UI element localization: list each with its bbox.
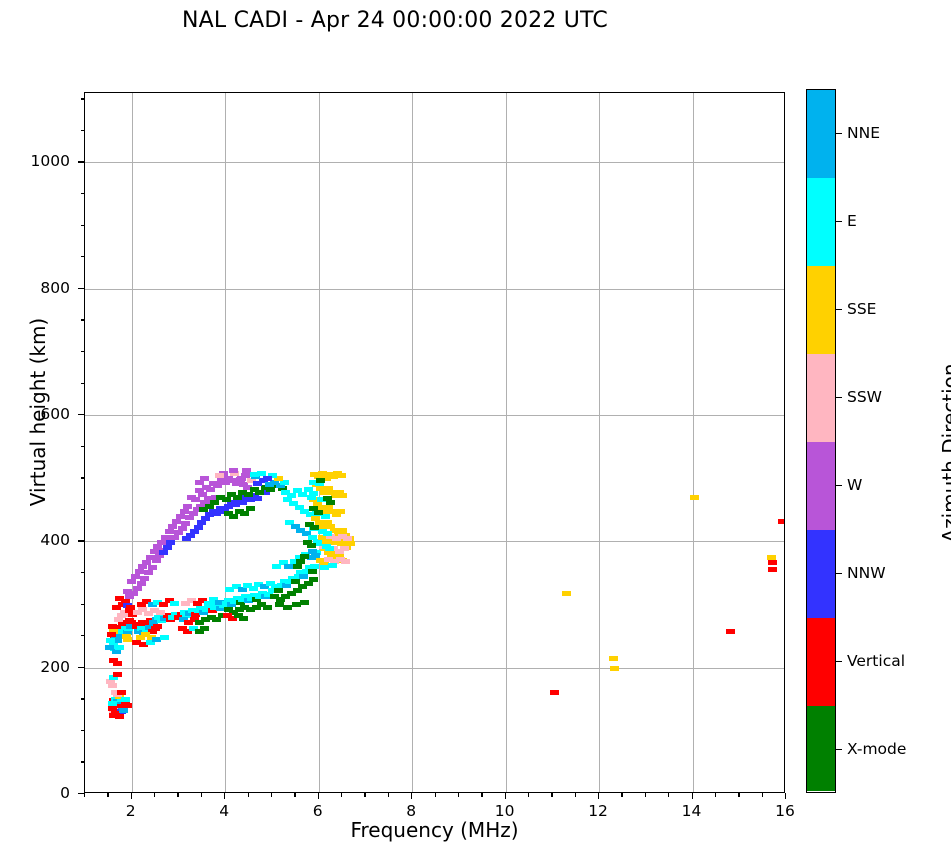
y-tick-minor — [81, 761, 85, 762]
x-tick-minor — [668, 793, 669, 797]
y-tick-label: 0 — [0, 784, 70, 802]
data-point — [263, 476, 272, 481]
data-point — [609, 656, 618, 661]
data-point — [336, 509, 345, 514]
x-tick-minor — [177, 793, 178, 797]
data-point — [106, 638, 115, 643]
x-tick-minor — [107, 793, 108, 797]
y-tick-minor — [81, 351, 85, 352]
y-tick-label: 200 — [0, 658, 70, 676]
data-point — [263, 605, 272, 610]
y-tick-major — [78, 414, 84, 415]
data-point — [181, 521, 190, 526]
colorbar-label-x-mode: X-mode — [847, 740, 906, 758]
colorbar-segment-nnw — [807, 530, 835, 618]
data-point — [108, 706, 117, 711]
data-point — [215, 473, 224, 478]
data-point — [309, 577, 318, 582]
data-point — [240, 511, 249, 516]
data-point — [195, 480, 204, 485]
data-point — [299, 574, 308, 579]
scatter-data-layer — [85, 93, 784, 792]
y-tick-minor — [81, 98, 85, 99]
x-tick-major — [411, 793, 412, 799]
x-tick-minor — [435, 793, 436, 797]
y-tick-minor — [81, 446, 85, 447]
data-point — [726, 629, 735, 634]
data-point — [300, 600, 309, 605]
colorbar — [806, 89, 836, 793]
colorbar-tick — [836, 397, 842, 398]
x-tick-minor — [458, 793, 459, 797]
data-point — [340, 546, 349, 551]
y-tick-minor — [81, 477, 85, 478]
data-point — [337, 473, 346, 478]
colorbar-segment-nne — [807, 90, 835, 178]
x-tick-minor — [528, 793, 529, 797]
y-tick-major — [78, 667, 84, 668]
data-point — [117, 690, 126, 695]
data-point — [323, 531, 332, 536]
x-tick-major — [785, 793, 786, 799]
data-point — [233, 495, 242, 500]
x-tick-minor — [621, 793, 622, 797]
data-point — [253, 496, 262, 501]
colorbar-tick — [836, 661, 842, 662]
x-tick-minor — [271, 793, 272, 797]
x-tick-minor — [481, 793, 482, 797]
colorbar-label-vertical: Vertical — [847, 652, 905, 670]
data-point — [160, 635, 169, 640]
data-point — [170, 601, 179, 606]
data-point — [153, 624, 162, 629]
data-point — [112, 605, 121, 610]
x-tick-minor — [201, 793, 202, 797]
data-point — [123, 589, 132, 594]
colorbar-label-nne: NNE — [847, 124, 880, 142]
data-point — [338, 493, 347, 498]
x-tick-minor — [248, 793, 249, 797]
data-point — [159, 550, 168, 555]
data-point — [115, 645, 124, 650]
data-point — [182, 536, 191, 541]
data-point — [119, 708, 128, 713]
data-point — [113, 672, 122, 677]
data-point — [127, 579, 136, 584]
data-point — [293, 564, 302, 569]
data-point — [610, 666, 619, 671]
data-point — [326, 500, 335, 505]
data-point — [550, 690, 559, 695]
data-point — [222, 497, 231, 502]
colorbar-label-w: W — [847, 476, 862, 494]
data-point — [562, 591, 571, 596]
y-tick-minor — [81, 730, 85, 731]
x-axis-label: Frequency (MHz) — [84, 818, 785, 842]
x-tick-major — [692, 793, 693, 799]
data-point — [191, 497, 200, 502]
colorbar-axis-label: Azimuth Direction — [938, 303, 951, 603]
data-point — [274, 588, 283, 593]
data-point — [115, 596, 124, 601]
data-point — [246, 506, 255, 511]
x-tick-major — [224, 793, 225, 799]
x-tick-minor — [388, 793, 389, 797]
y-tick-minor — [81, 509, 85, 510]
x-tick-minor — [762, 793, 763, 797]
colorbar-tick — [836, 485, 842, 486]
y-tick-minor — [81, 698, 85, 699]
x-tick-major — [505, 793, 506, 799]
data-point — [121, 697, 130, 702]
y-tick-major — [78, 288, 84, 289]
y-tick-label: 1000 — [0, 152, 70, 170]
x-tick-minor — [341, 793, 342, 797]
data-point — [316, 478, 325, 483]
data-point — [107, 632, 116, 637]
data-point — [239, 616, 248, 621]
y-tick-minor — [81, 383, 85, 384]
x-tick-minor — [738, 793, 739, 797]
data-point — [307, 495, 316, 500]
data-point — [108, 624, 117, 629]
colorbar-tick — [836, 573, 842, 574]
x-tick-minor — [364, 793, 365, 797]
data-point — [199, 507, 208, 512]
colorbar-tick — [836, 309, 842, 310]
data-point — [244, 492, 253, 497]
colorbar-segment-e — [807, 178, 835, 266]
y-tick-minor — [81, 572, 85, 573]
x-tick-minor — [715, 793, 716, 797]
data-point — [113, 661, 122, 666]
page-title: NAL CADI - Apr 24 00:00:00 2022 UTC — [0, 8, 790, 33]
data-point — [125, 594, 134, 599]
data-point — [768, 560, 777, 565]
data-point — [325, 546, 334, 551]
x-tick-minor — [575, 793, 576, 797]
colorbar-segment-ssw — [807, 354, 835, 442]
colorbar-segment-w — [807, 442, 835, 530]
y-tick-major — [78, 161, 84, 162]
y-tick-minor — [81, 604, 85, 605]
data-point — [123, 703, 132, 708]
data-point — [308, 569, 317, 574]
data-point — [165, 529, 174, 534]
data-point — [311, 553, 320, 558]
y-axis-label: Virtual height (km) — [26, 282, 50, 542]
data-point — [108, 683, 117, 688]
data-point — [320, 565, 329, 570]
data-point — [314, 510, 323, 515]
colorbar-label-e: E — [847, 212, 857, 230]
y-tick-major — [78, 540, 84, 541]
y-tick-minor — [81, 635, 85, 636]
data-point — [229, 468, 238, 473]
x-tick-minor — [551, 793, 552, 797]
data-point — [105, 645, 114, 650]
data-point — [229, 514, 238, 519]
colorbar-segment-x-mode — [807, 706, 835, 791]
colorbar-segment-vertical — [807, 618, 835, 706]
colorbar-tick — [836, 749, 842, 750]
data-point — [778, 519, 784, 524]
data-point — [328, 563, 337, 568]
x-tick-major — [131, 793, 132, 799]
y-tick-minor — [81, 130, 85, 131]
y-tick-minor — [81, 319, 85, 320]
data-point — [690, 495, 699, 500]
data-point — [307, 543, 316, 548]
x-tick-minor — [154, 793, 155, 797]
colorbar-segment-sse — [807, 266, 835, 354]
x-tick-minor — [84, 793, 85, 797]
data-point — [156, 610, 165, 615]
ionogram-figure: NAL CADI - Apr 24 00:00:00 2022 UTC 2468… — [0, 0, 951, 856]
x-tick-major — [318, 793, 319, 799]
colorbar-tick — [836, 133, 842, 134]
colorbar-label-ssw: SSW — [847, 388, 882, 406]
y-tick-minor — [81, 256, 85, 257]
data-point — [178, 526, 187, 531]
data-point — [152, 558, 161, 563]
data-point — [112, 649, 121, 654]
y-tick-major — [78, 793, 84, 794]
data-point — [343, 536, 352, 541]
x-tick-major — [598, 793, 599, 799]
data-point — [255, 490, 264, 495]
y-tick-minor — [81, 193, 85, 194]
y-tick-minor — [81, 225, 85, 226]
data-point — [768, 567, 777, 572]
plot-area — [84, 92, 785, 793]
data-point — [115, 714, 124, 719]
data-point — [310, 525, 319, 530]
data-point — [341, 559, 350, 564]
x-tick-minor — [645, 793, 646, 797]
colorbar-tick — [836, 221, 842, 222]
colorbar-label-sse: SSE — [847, 300, 876, 318]
colorbar-label-nnw: NNW — [847, 564, 886, 582]
data-point — [200, 626, 209, 631]
data-point — [310, 564, 319, 569]
x-tick-minor — [294, 793, 295, 797]
